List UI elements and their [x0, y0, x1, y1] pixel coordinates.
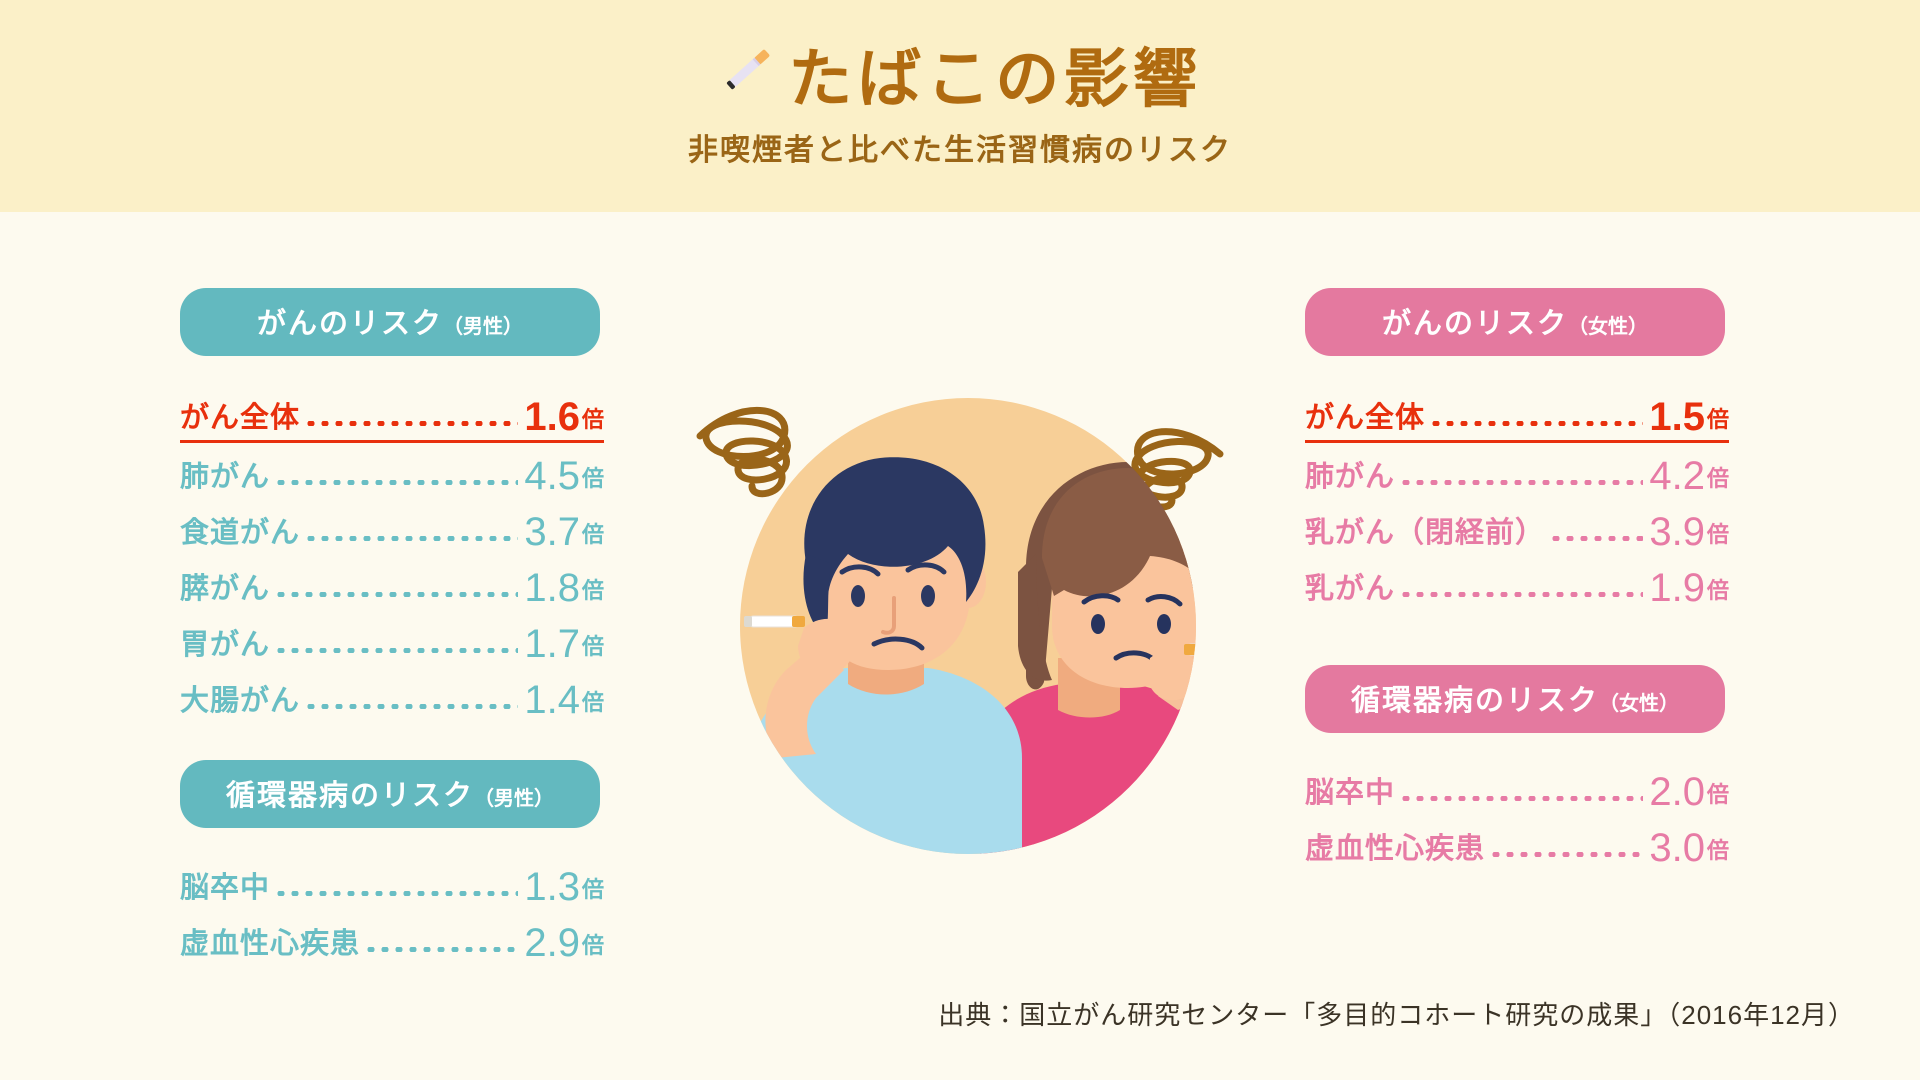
leader-dots [1489, 852, 1643, 857]
row-value: 2.0 [1649, 770, 1705, 815]
section-title: がんのリスク [257, 308, 443, 340]
section-subtitle: （女性） [1568, 316, 1648, 338]
leader-dots [304, 704, 518, 709]
row-value: 1.4 [524, 678, 580, 723]
rows-cancer-male: がん全体 1.6 倍 肺がん 4.5 倍 食道がん 3.7 倍 膵がん 1.8 [180, 382, 620, 723]
row-unit: 倍 [582, 461, 604, 499]
section-subtitle: （女性） [1599, 693, 1679, 715]
row-unit: 倍 [1707, 833, 1729, 871]
table-row: 虚血性心疾患 3.0 倍 [1305, 815, 1729, 871]
infographic-page: たばこの影響 非喫煙者と比べた生活習慣病のリスク がんのリスク（男性） がん全体… [0, 0, 1920, 1080]
leader-dots [1399, 480, 1643, 485]
smoke-scribble-left [700, 410, 787, 493]
header-band: たばこの影響 非喫煙者と比べた生活習慣病のリスク [0, 0, 1920, 212]
row-unit: 倍 [1707, 517, 1729, 555]
table-row: 乳がん（閉経前） 3.9 倍 [1305, 499, 1729, 555]
row-label: 大腸がん [180, 677, 300, 723]
table-row: 虚血性心疾患 2.9 倍 [180, 910, 604, 966]
cigarette-icon [718, 37, 780, 99]
section-cancer-male: がんのリスク（男性） がん全体 1.6 倍 肺がん 4.5 倍 食道がん 3.7… [180, 288, 620, 723]
section-header-circulatory-female: 循環器病のリスク（女性） [1305, 665, 1725, 733]
row-unit: 倍 [1707, 461, 1729, 499]
row-label: 胃がん [180, 621, 270, 667]
row-unit: 倍 [582, 402, 604, 440]
row-label: 脳卒中 [1305, 769, 1395, 815]
section-circulatory-female: 循環器病のリスク（女性） 脳卒中 2.0 倍 虚血性心疾患 3.0 倍 [1305, 665, 1745, 871]
row-value: 4.5 [524, 454, 580, 499]
section-header-circulatory-male: 循環器病のリスク（男性） [180, 760, 600, 828]
section-header-cancer-male: がんのリスク（男性） [180, 288, 600, 356]
row-label: がん全体 [180, 394, 300, 440]
row-value: 3.0 [1649, 826, 1705, 871]
row-value: 3.9 [1649, 510, 1705, 555]
leader-dots [274, 592, 518, 597]
row-value: 4.2 [1649, 454, 1705, 499]
rows-circulatory-female: 脳卒中 2.0 倍 虚血性心疾患 3.0 倍 [1305, 759, 1745, 871]
row-label: 虚血性心疾患 [1305, 825, 1485, 871]
table-row: がん全体 1.5 倍 [1305, 382, 1729, 443]
leader-dots [1549, 536, 1643, 541]
table-row: 大腸がん 1.4 倍 [180, 667, 604, 723]
row-unit: 倍 [1707, 777, 1729, 815]
leader-dots [274, 648, 518, 653]
table-row: 乳がん 1.9 倍 [1305, 555, 1729, 611]
section-circulatory-male: 循環器病のリスク（男性） 脳卒中 1.3 倍 虚血性心疾患 2.9 倍 [180, 760, 620, 966]
row-label: 脳卒中 [180, 864, 270, 910]
row-value: 1.3 [524, 865, 580, 910]
leader-dots [304, 421, 518, 426]
table-row: 肺がん 4.5 倍 [180, 443, 604, 499]
row-unit: 倍 [582, 928, 604, 966]
row-unit: 倍 [582, 629, 604, 667]
row-unit: 倍 [1707, 573, 1729, 611]
cigarette-man [744, 616, 805, 627]
row-label: 膵がん [180, 565, 270, 611]
section-header-cancer-female: がんのリスク（女性） [1305, 288, 1725, 356]
row-unit: 倍 [582, 573, 604, 611]
row-label: 乳がん [1305, 565, 1395, 611]
table-row: 食道がん 3.7 倍 [180, 499, 604, 555]
smoking-couple-illustration [680, 358, 1240, 878]
row-label: 乳がん（閉経前） [1305, 509, 1545, 555]
row-label: 虚血性心疾患 [180, 920, 360, 966]
rows-circulatory-male: 脳卒中 1.3 倍 虚血性心疾患 2.9 倍 [180, 854, 620, 966]
row-unit: 倍 [1707, 402, 1729, 440]
row-unit: 倍 [582, 685, 604, 723]
rows-cancer-female: がん全体 1.5 倍 肺がん 4.2 倍 乳がん（閉経前） 3.9 倍 乳がん … [1305, 382, 1745, 611]
row-value: 1.9 [1649, 566, 1705, 611]
row-label: 肺がん [1305, 453, 1395, 499]
row-label: 食道がん [180, 509, 300, 555]
source-note: 出典：国立がん研究センター「多目的コホート研究の成果」（2016年12月） [0, 995, 1855, 1032]
page-subtitle: 非喫煙者と比べた生活習慣病のリスク [0, 125, 1920, 169]
table-row: 胃がん 1.7 倍 [180, 611, 604, 667]
title-row: たばこの影響 [0, 28, 1920, 120]
cigarette-woman [1184, 644, 1236, 655]
row-label: 肺がん [180, 453, 270, 499]
section-subtitle: （男性） [443, 316, 523, 338]
table-row: がん全体 1.6 倍 [180, 382, 604, 443]
row-value: 1.8 [524, 566, 580, 611]
table-row: 脳卒中 1.3 倍 [180, 854, 604, 910]
section-title: 循環器病のリスク [226, 780, 474, 812]
leader-dots [274, 891, 518, 896]
leader-dots [274, 480, 518, 485]
leader-dots [1429, 421, 1643, 426]
section-title: がんのリスク [1382, 308, 1568, 340]
table-row: 脳卒中 2.0 倍 [1305, 759, 1729, 815]
row-value: 1.5 [1649, 395, 1705, 440]
section-title: 循環器病のリスク [1351, 685, 1599, 717]
row-unit: 倍 [582, 872, 604, 910]
row-value: 2.9 [524, 921, 580, 966]
leader-dots [1399, 592, 1643, 597]
leader-dots [304, 536, 518, 541]
leader-dots [364, 947, 518, 952]
page-title: たばこの影響 [788, 28, 1202, 120]
section-subtitle: （男性） [474, 788, 554, 810]
table-row: 膵がん 1.8 倍 [180, 555, 604, 611]
table-row: 肺がん 4.2 倍 [1305, 443, 1729, 499]
row-label: がん全体 [1305, 394, 1425, 440]
leader-dots [1399, 796, 1643, 801]
row-value: 1.7 [524, 622, 580, 667]
row-value: 1.6 [524, 395, 580, 440]
row-value: 3.7 [524, 510, 580, 555]
section-cancer-female: がんのリスク（女性） がん全体 1.5 倍 肺がん 4.2 倍 乳がん（閉経前）… [1305, 288, 1745, 611]
row-unit: 倍 [582, 517, 604, 555]
